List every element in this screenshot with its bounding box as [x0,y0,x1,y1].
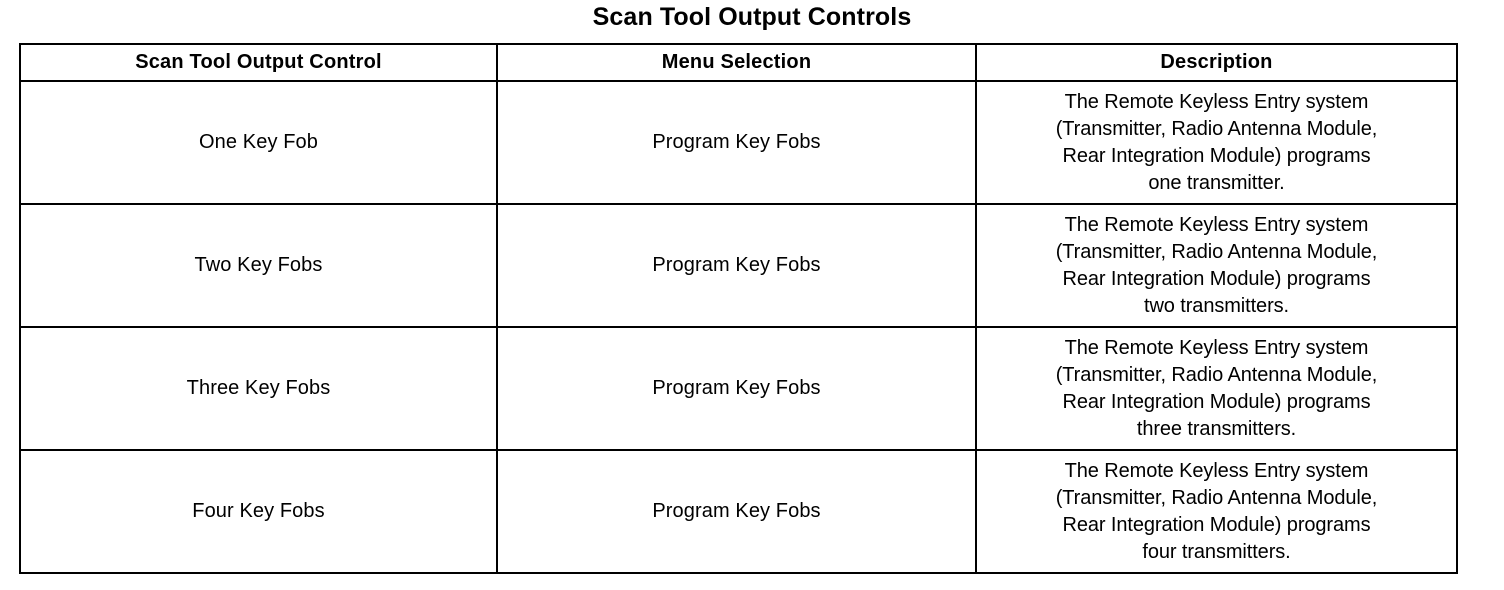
table-header: Scan Tool Output Control Menu Selection … [20,44,1457,81]
cell-menu-selection: Program Key Fobs [497,327,976,450]
cell-menu-selection: Program Key Fobs [497,204,976,327]
table-row: One Key Fob Program Key Fobs The Remote … [20,81,1457,204]
cell-control: Three Key Fobs [20,327,497,450]
scan-tool-output-controls-table-wrapper: Scan Tool Output Control Menu Selection … [19,43,1456,574]
description-line: The Remote Keyless Entry system [985,458,1448,485]
column-header-scan-tool-output-control: Scan Tool Output Control [20,44,497,81]
description-line: Rear Integration Module) programs [985,512,1448,539]
description-line: Rear Integration Module) programs [985,266,1448,293]
description-line: four transmitters. [985,539,1448,566]
column-header-description: Description [976,44,1457,81]
table-body: One Key Fob Program Key Fobs The Remote … [20,81,1457,573]
cell-description: The Remote Keyless Entry system (Transmi… [976,327,1457,450]
description-line: Rear Integration Module) programs [985,143,1448,170]
cell-menu-selection: Program Key Fobs [497,450,976,573]
description-line: one transmitter. [985,170,1448,197]
description-line: three transmitters. [985,416,1448,443]
cell-menu-selection: Program Key Fobs [497,81,976,204]
cell-control: One Key Fob [20,81,497,204]
description-line: (Transmitter, Radio Antenna Module, [985,239,1448,266]
table-row: Two Key Fobs Program Key Fobs The Remote… [20,204,1457,327]
description-line: Rear Integration Module) programs [985,389,1448,416]
page-title: Scan Tool Output Controls [0,2,1504,32]
cell-control: Four Key Fobs [20,450,497,573]
table-row: Four Key Fobs Program Key Fobs The Remot… [20,450,1457,573]
description-line: (Transmitter, Radio Antenna Module, [985,485,1448,512]
description-line: The Remote Keyless Entry system [985,212,1448,239]
cell-description: The Remote Keyless Entry system (Transmi… [976,204,1457,327]
column-header-menu-selection: Menu Selection [497,44,976,81]
cell-control: Two Key Fobs [20,204,497,327]
description-line: (Transmitter, Radio Antenna Module, [985,362,1448,389]
document-page: Scan Tool Output Controls Scan Tool Outp… [0,0,1504,590]
description-line: The Remote Keyless Entry system [985,89,1448,116]
cell-description: The Remote Keyless Entry system (Transmi… [976,81,1457,204]
scan-tool-output-controls-table: Scan Tool Output Control Menu Selection … [19,43,1458,574]
table-header-row: Scan Tool Output Control Menu Selection … [20,44,1457,81]
table-row: Three Key Fobs Program Key Fobs The Remo… [20,327,1457,450]
cell-description: The Remote Keyless Entry system (Transmi… [976,450,1457,573]
description-line: The Remote Keyless Entry system [985,335,1448,362]
description-line: two transmitters. [985,293,1448,320]
description-line: (Transmitter, Radio Antenna Module, [985,116,1448,143]
